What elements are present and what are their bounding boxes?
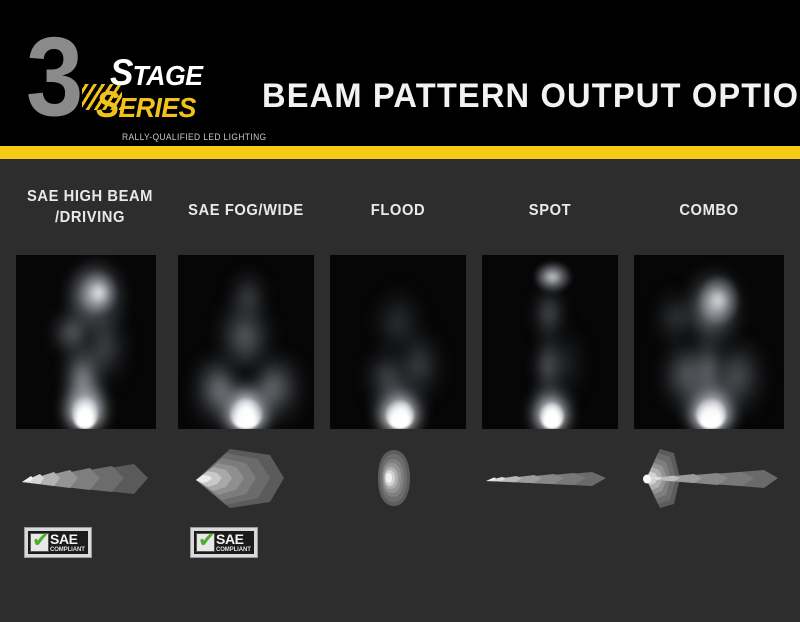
sae-compliant-badge: ✔ SAE COMPLIANT bbox=[190, 527, 258, 558]
beam-diagram-sae-high-beam-driving bbox=[16, 447, 164, 509]
column-label-line1: SPOT bbox=[529, 202, 571, 219]
column-flood: FLOOD bbox=[330, 159, 466, 622]
beam-shape bbox=[634, 447, 784, 509]
beam-shape bbox=[178, 447, 314, 509]
column-label-line2: /DRIVING bbox=[20, 207, 161, 228]
beam-diagram-spot bbox=[482, 447, 618, 509]
beam-shape bbox=[330, 447, 466, 509]
column-spot: SPOT bbox=[482, 159, 618, 622]
column-label: FLOOD bbox=[333, 200, 462, 221]
stage-series-logo: 3 STAGE SERIES RALLY-QUALIFIED LED LIGHT… bbox=[26, 28, 246, 133]
column-label: SAE FOG/WIDE bbox=[181, 200, 310, 221]
column-combo: COMBO bbox=[634, 159, 784, 622]
logo-series-initial: S bbox=[96, 84, 119, 125]
logo-word-series: SERIES bbox=[96, 88, 201, 125]
check-box: ✔ bbox=[30, 533, 49, 552]
sae-badge-subtitle: COMPLIANT bbox=[216, 547, 251, 553]
beam-photo-combo bbox=[634, 255, 784, 429]
sae-compliant-badge: ✔ SAE COMPLIANT bbox=[24, 527, 92, 558]
column-label-line1: SAE FOG/WIDE bbox=[188, 202, 304, 219]
beam-photo-sae-fog-wide bbox=[178, 255, 314, 429]
logo-tagline: RALLY-QUALIFIED LED LIGHTING bbox=[122, 132, 267, 142]
logo-stage-rest: TAGE bbox=[133, 60, 203, 91]
accent-divider bbox=[0, 146, 800, 159]
sae-badge-title: SAE bbox=[216, 532, 251, 546]
column-label-line1: COMBO bbox=[679, 202, 738, 219]
column-label-line1: SAE HIGH BEAM bbox=[27, 188, 153, 205]
column-label: SAE HIGH BEAM /DRIVING bbox=[20, 186, 161, 228]
beam-photo-flood bbox=[330, 255, 466, 429]
sae-badge-subtitle: COMPLIANT bbox=[50, 547, 85, 553]
sae-badge-title: SAE bbox=[50, 532, 85, 546]
page-title: BEAM PATTERN OUTPUT OPTIONS bbox=[262, 77, 800, 116]
check-icon: ✔ bbox=[32, 530, 50, 551]
beam-diagram-flood bbox=[330, 447, 466, 509]
beam-pattern-columns: SAE HIGH BEAM /DRIVING bbox=[0, 159, 800, 622]
header-bar: 3 STAGE SERIES RALLY-QUALIFIED LED LIGHT… bbox=[0, 0, 800, 146]
beam-pattern-infographic: 3 STAGE SERIES RALLY-QUALIFIED LED LIGHT… bbox=[0, 0, 800, 622]
column-sae-high-beam-driving: SAE HIGH BEAM /DRIVING bbox=[16, 159, 164, 622]
beam-shape bbox=[16, 447, 164, 509]
beam-diagram-sae-fog-wide bbox=[178, 447, 314, 509]
beam-photo-sae-high-beam-driving bbox=[16, 255, 156, 429]
check-box: ✔ bbox=[196, 533, 215, 552]
column-label-line1: FLOOD bbox=[371, 202, 425, 219]
column-sae-fog-wide: SAE FOG/WIDE bbox=[178, 159, 314, 622]
check-icon: ✔ bbox=[198, 530, 216, 551]
column-label: COMBO bbox=[638, 200, 781, 221]
beam-photo-spot bbox=[482, 255, 618, 429]
logo-numeral-3: 3 bbox=[26, 24, 80, 129]
beam-shape bbox=[482, 447, 618, 509]
column-label: SPOT bbox=[485, 200, 614, 221]
beam-diagram-combo bbox=[634, 447, 784, 509]
logo-series-rest: ERIES bbox=[119, 92, 196, 123]
